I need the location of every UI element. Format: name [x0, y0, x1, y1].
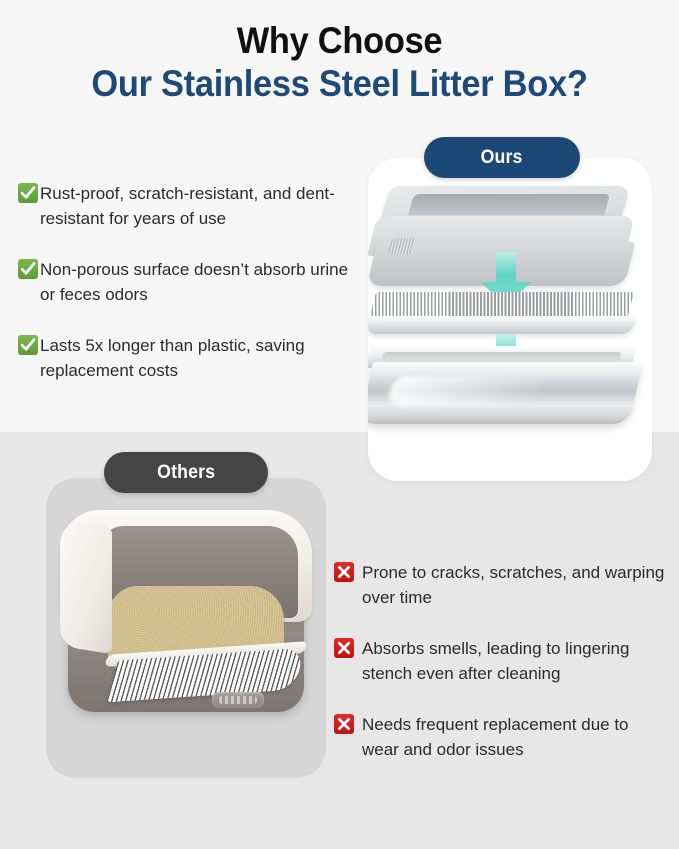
- plastic-box-side-wall: [60, 518, 112, 654]
- list-item: Needs frequent replacement due to wear a…: [334, 712, 670, 762]
- list-item-label: Needs frequent replacement due to wear a…: [362, 712, 670, 762]
- ours-product-card: [368, 158, 652, 481]
- ours-badge: Ours: [424, 137, 580, 178]
- others-product-image: [46, 478, 326, 778]
- others-badge: Others: [104, 452, 268, 493]
- red-x-icon: [334, 714, 354, 734]
- green-check-icon: [18, 259, 38, 279]
- list-item: Lasts 5x longer than plastic, saving rep…: [18, 333, 366, 383]
- list-item: Prone to cracks, scratches, and warping …: [334, 560, 670, 610]
- infographic-page: Why Choose Our Stainless Steel Litter Bo…: [0, 0, 679, 849]
- list-item-label: Prone to cracks, scratches, and warping …: [362, 560, 670, 610]
- ours-badge-label: Ours: [481, 147, 523, 169]
- title-line-1: Why Choose: [24, 20, 655, 62]
- green-check-icon: [18, 335, 38, 355]
- perforated-sieve-tray: [368, 292, 636, 338]
- others-product-card: [46, 478, 326, 778]
- sieve-tray-lip: [368, 316, 636, 334]
- ours-benefit-list: Rust-proof, scratch-resistant, and dent-…: [18, 181, 366, 383]
- red-x-icon: [334, 638, 354, 658]
- ours-product-image: [368, 158, 652, 481]
- list-item-label: Absorbs smells, leading to lingering ste…: [362, 636, 670, 686]
- red-x-icon: [334, 562, 354, 582]
- list-item: Rust-proof, scratch-resistant, and dent-…: [18, 181, 366, 231]
- list-item-label: Non-porous surface doesn’t absorb urine …: [40, 257, 366, 307]
- others-drawback-list: Prone to cracks, scratches, and warping …: [334, 560, 670, 762]
- title-line-2: Our Stainless Steel Litter Box?: [24, 62, 655, 106]
- list-item: Absorbs smells, leading to lingering ste…: [334, 636, 670, 686]
- list-item-label: Rust-proof, scratch-resistant, and dent-…: [40, 181, 366, 231]
- list-item-label: Lasts 5x longer than plastic, saving rep…: [40, 333, 366, 383]
- green-check-icon: [18, 183, 38, 203]
- list-item: Non-porous surface doesn’t absorb urine …: [18, 257, 366, 307]
- others-badge-label: Others: [157, 462, 215, 484]
- pan-highlight: [387, 376, 544, 406]
- plastic-box-handle: [212, 692, 264, 708]
- stainless-base-pan: [368, 346, 644, 446]
- hood-vent-grille: [388, 238, 416, 254]
- page-title: Why Choose Our Stainless Steel Litter Bo…: [0, 20, 679, 106]
